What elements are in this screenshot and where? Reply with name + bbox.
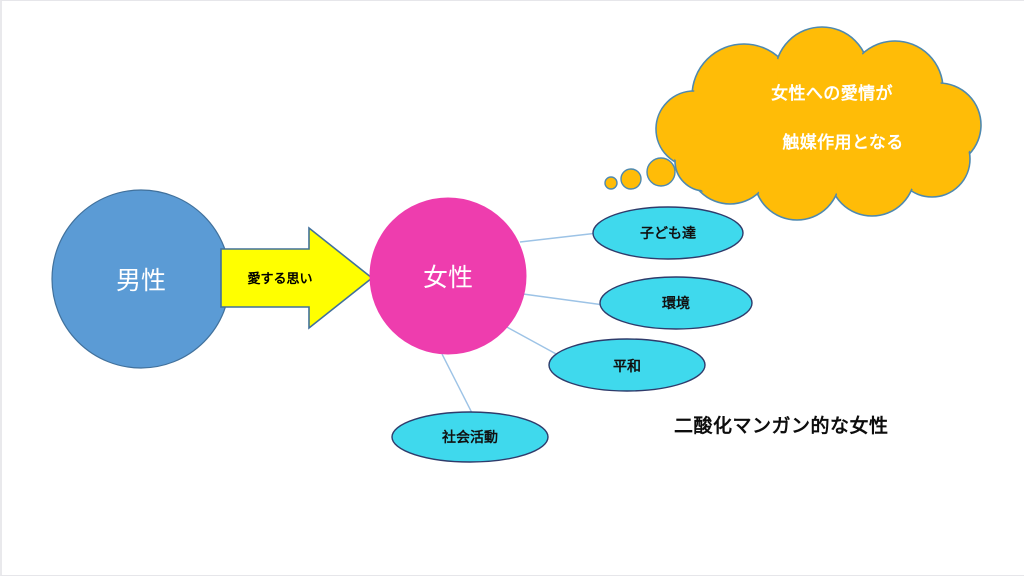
tail-dot-small (605, 177, 617, 189)
connector-line-social (442, 354, 472, 413)
tail-dot-large (647, 158, 675, 186)
male-node-circle[interactable] (52, 190, 230, 368)
branch-ellipse-environment[interactable] (600, 277, 752, 329)
thought-cloud-shape[interactable] (656, 27, 981, 220)
branch-ellipse-peace[interactable] (549, 339, 705, 391)
branch-ellipse-social[interactable] (392, 412, 548, 462)
branch-ellipse-children[interactable] (593, 207, 743, 259)
connector-line-environment (523, 294, 604, 305)
diagram-surface (2, 1, 1024, 576)
slide-canvas: 男性 女性 愛する思い 子ども達 環境 平和 社会活動 女性への愛情が 触媒作用… (0, 0, 1024, 576)
connector-line-children (520, 233, 598, 242)
thought-cloud-tail-dots (605, 158, 675, 189)
female-node-circle[interactable] (370, 198, 526, 354)
connector-line-peace (505, 326, 558, 355)
love-arrow-shape[interactable] (221, 228, 372, 328)
tail-dot-medium (621, 169, 641, 189)
slide-caption: 二酸化マンガン的な女性 (674, 411, 889, 438)
